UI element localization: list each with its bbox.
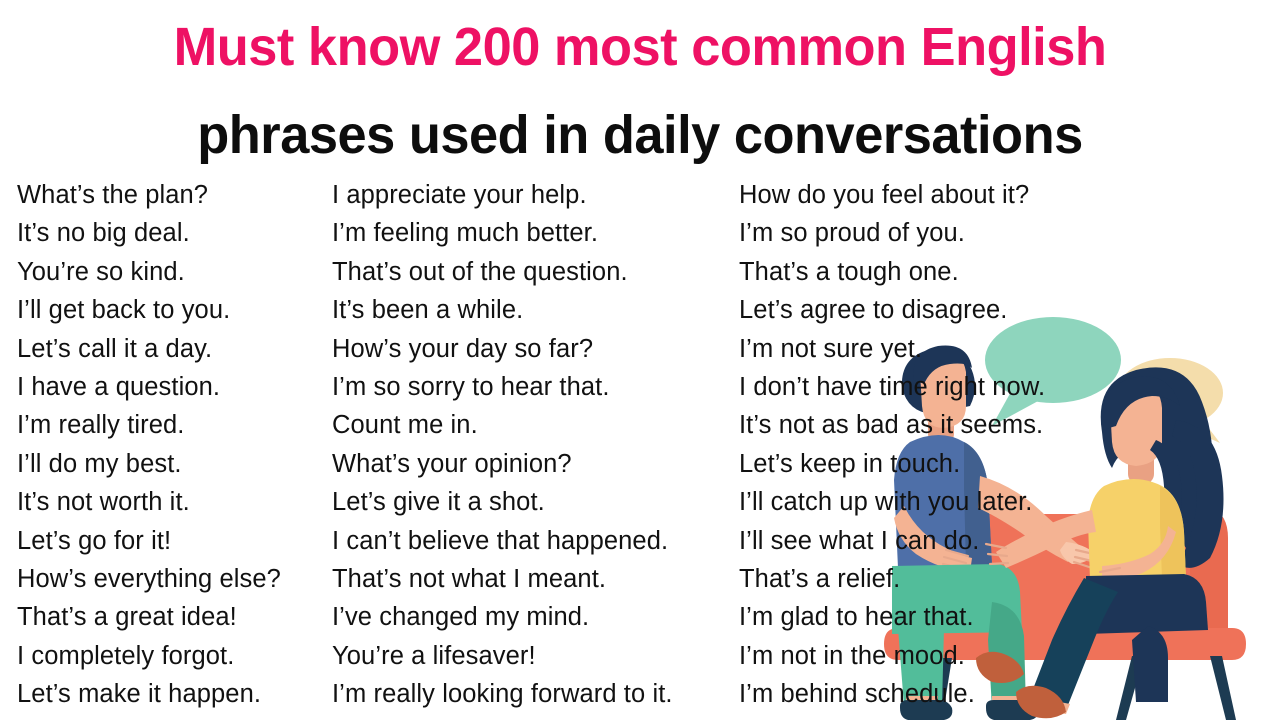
phrase-item: I’m so proud of you. [739,214,1159,252]
phrase-item: That’s a great idea! [17,598,327,636]
phrase-item: I’m so sorry to hear that. [332,368,737,406]
phrase-item: I’m really looking forward to it. [332,675,737,713]
phrase-item: It’s been a while. [332,291,737,329]
phrase-item: Let’s call it a day. [17,330,327,368]
phrase-item: It’s no big deal. [17,214,327,252]
phrase-item: I’ve changed my mind. [332,598,737,636]
phrase-item: Let’s give it a shot. [332,483,737,521]
phrase-item: You’re so kind. [17,253,327,291]
phrase-item: Let’s keep in touch. [739,445,1159,483]
page-title-secondary: phrases used in daily conversations [19,104,1261,166]
phrase-column-2: I appreciate your help. I’m feeling much… [332,176,737,714]
phrase-item: Count me in. [332,406,737,444]
poster-canvas: Must know 200 most common English phrase… [0,0,1280,720]
phrase-columns: What’s the plan? It’s no big deal. You’r… [0,176,1280,720]
phrase-item: I’ll do my best. [17,445,327,483]
phrase-item: You’re a lifesaver! [332,637,737,675]
phrase-item: I’m glad to hear that. [739,598,1159,636]
phrase-item: I’m behind schedule. [739,675,1159,713]
phrase-item: How’s your day so far? [332,330,737,368]
phrase-item: That’s a tough one. [739,253,1159,291]
phrase-item: I have a question. [17,368,327,406]
page-title-primary: Must know 200 most common English [19,16,1261,78]
phrase-item: How’s everything else? [17,560,327,598]
phrase-item: Let’s make it happen. [17,675,327,713]
phrase-item: I’ll get back to you. [17,291,327,329]
phrase-item: How do you feel about it? [739,176,1159,214]
phrase-item: I can’t believe that happened. [332,522,737,560]
phrase-item: Let’s go for it! [17,522,327,560]
phrase-item: I completely forgot. [17,637,327,675]
phrase-column-1: What’s the plan? It’s no big deal. You’r… [17,176,327,714]
phrase-item: It’s not as bad as it seems. [739,406,1159,444]
phrase-item: Let’s agree to disagree. [739,291,1159,329]
phrase-item: I’m feeling much better. [332,214,737,252]
phrase-item: I don’t have time right now. [739,368,1159,406]
phrase-item: It’s not worth it. [17,483,327,521]
phrase-item: I’m really tired. [17,406,327,444]
phrase-item: I’m not sure yet. [739,330,1159,368]
phrase-column-3: How do you feel about it? I’m so proud o… [739,176,1159,714]
phrase-item: I’ll catch up with you later. [739,483,1159,521]
phrase-item: I’m not in the mood. [739,637,1159,675]
phrase-item: What’s the plan? [17,176,327,214]
phrase-item: I appreciate your help. [332,176,737,214]
phrase-item: What’s your opinion? [332,445,737,483]
phrase-item: That’s out of the question. [332,253,737,291]
phrase-item: That’s not what I meant. [332,560,737,598]
phrase-item: That’s a relief. [739,560,1159,598]
phrase-item: I’ll see what I can do. [739,522,1159,560]
